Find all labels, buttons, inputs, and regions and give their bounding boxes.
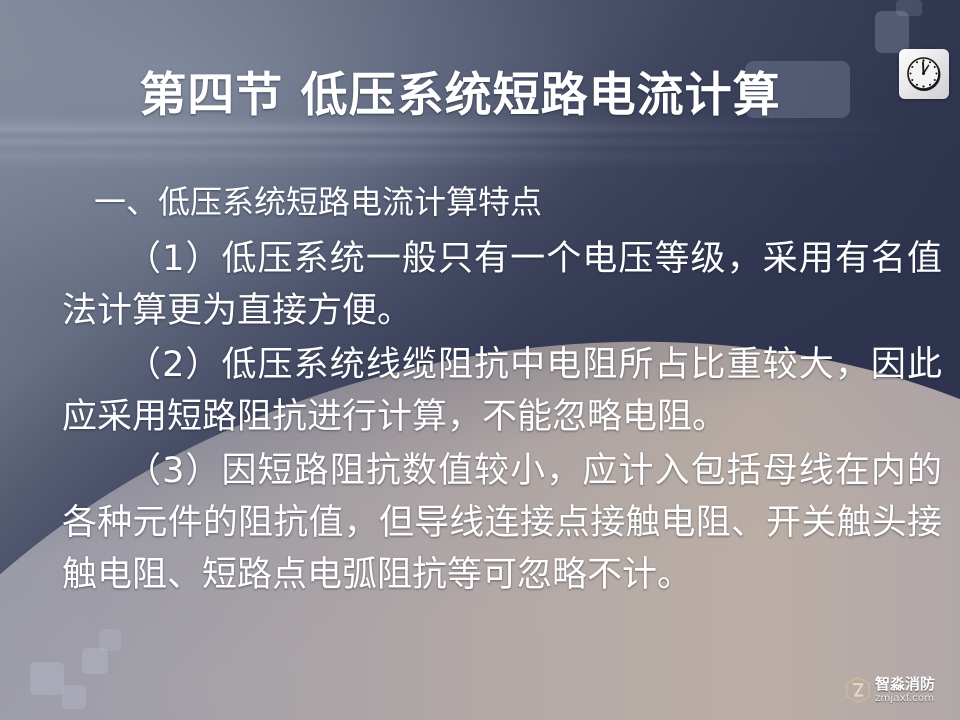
decorative-square-top-right-1 [875,11,909,53]
decorative-square-bottom-left-3 [82,648,108,674]
slide-body: 一、低压系统短路电流计算特点 （1）低压系统一般只有一个电压等级，采用有名值法计… [62,176,942,601]
decorative-square-top-right-2 [896,0,922,16]
paragraph-3: （3）因短路阻抗数值较小，应计入包括母线在内的各种元件的阻抗值，但导线连接点接触… [62,445,942,601]
watermark: 智淼消防 zmjaxf.com [845,676,935,704]
watermark-text: 智淼消防 zmjaxf.com [875,677,935,704]
decorative-square-bottom-left-2 [62,685,86,709]
presentation-slide: 第四节 低压系统短路电流计算 [0,0,960,720]
watermark-url: zmjaxf.com [875,694,935,704]
section-heading: 一、低压系统短路电流计算特点 [62,176,942,228]
decorative-square-bottom-left-4 [99,629,121,651]
clock-icon [899,49,949,99]
slide-title: 第四节 低压系统短路电流计算 [0,56,960,125]
zhimiao-logo-icon [845,676,871,704]
watermark-brand: 智淼消防 [875,677,935,692]
paragraph-2: （2）低压系统线缆阻抗中电阻所占比重较大，因此应采用短路阻抗进行计算，不能忽略电… [62,339,942,443]
paragraph-1: （1）低压系统一般只有一个电压等级，采用有名值法计算更为直接方便。 [62,233,942,337]
decorative-square-bottom-left-1 [30,662,64,695]
